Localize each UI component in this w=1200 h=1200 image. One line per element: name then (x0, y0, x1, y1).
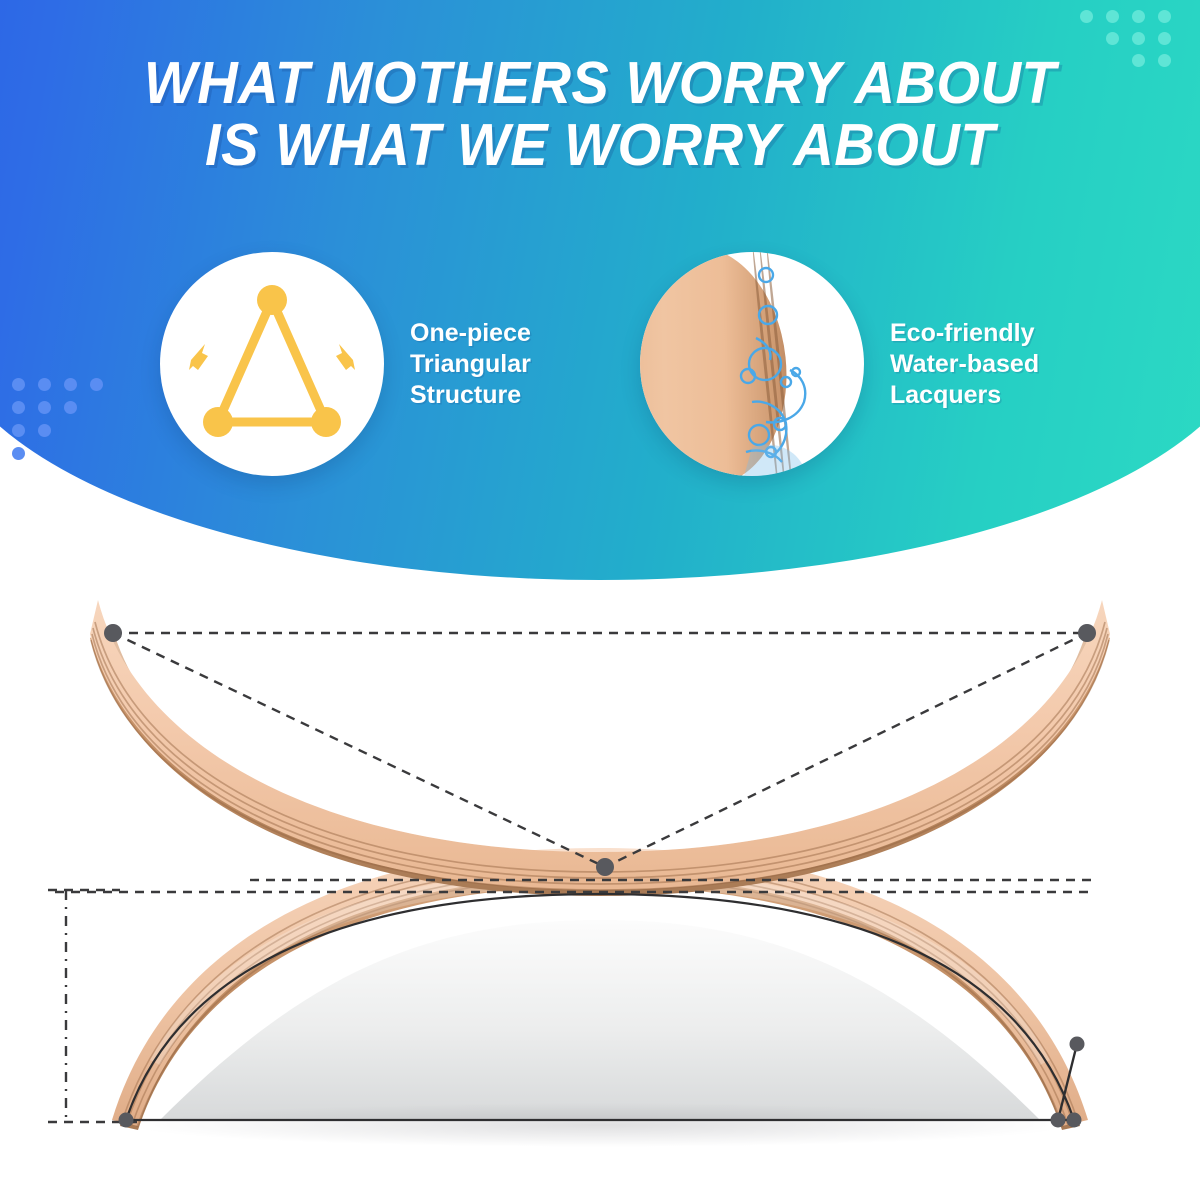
feature-1-line-2: Triangular (410, 349, 531, 380)
water-splash-svg (640, 252, 864, 476)
headline: WHAT MOTHERS WORRY ABOUT IS WHAT WE WORR… (30, 52, 1170, 176)
feature-1-line-3: Structure (410, 380, 531, 411)
top-board (90, 598, 1110, 896)
feature-2-line-1: Eco-friendly (890, 318, 1039, 349)
headline-line-2: IS WHAT WE WORRY ABOUT (30, 114, 1170, 176)
ground-shadow (130, 1103, 1070, 1147)
triangle-structure-svg (160, 252, 384, 476)
vertex-dot-apex (596, 858, 614, 876)
wood-water-icon (640, 252, 864, 476)
width-dot-top (1070, 1037, 1085, 1052)
vertex-dot-base-left (119, 1113, 134, 1128)
feature-2-line-3: Lacquers (890, 380, 1039, 411)
balance-board-svg (0, 560, 1200, 1200)
vertex-dot-base-right (1067, 1113, 1082, 1128)
feature-one-piece-triangular-structure: One-piece Triangular Structure (160, 252, 531, 476)
feature-1-line-1: One-piece (410, 318, 531, 349)
infographic-page: WHAT MOTHERS WORRY ABOUT IS WHAT WE WORR… (0, 0, 1200, 1200)
triangle-structure-icon (160, 252, 384, 476)
product-dimension-diagram: 0.6 inches 7.1 inches 10 inches 35 inche… (0, 560, 1200, 1200)
vertex-dot-top-left (104, 624, 122, 642)
width-dot-bottom (1051, 1113, 1066, 1128)
vertex-dot-top-right (1078, 624, 1096, 642)
feature-eco-friendly-water-based-lacquers: Eco-friendly Water-based Lacquers (640, 252, 1039, 476)
banner-section: WHAT MOTHERS WORRY ABOUT IS WHAT WE WORR… (0, 0, 1200, 600)
feature-1-text: One-piece Triangular Structure (410, 318, 531, 411)
feature-2-text: Eco-friendly Water-based Lacquers (890, 318, 1039, 411)
decorative-dots-left (8, 378, 118, 473)
headline-line-1: WHAT MOTHERS WORRY ABOUT (144, 50, 1056, 116)
feature-2-line-2: Water-based (890, 349, 1039, 380)
